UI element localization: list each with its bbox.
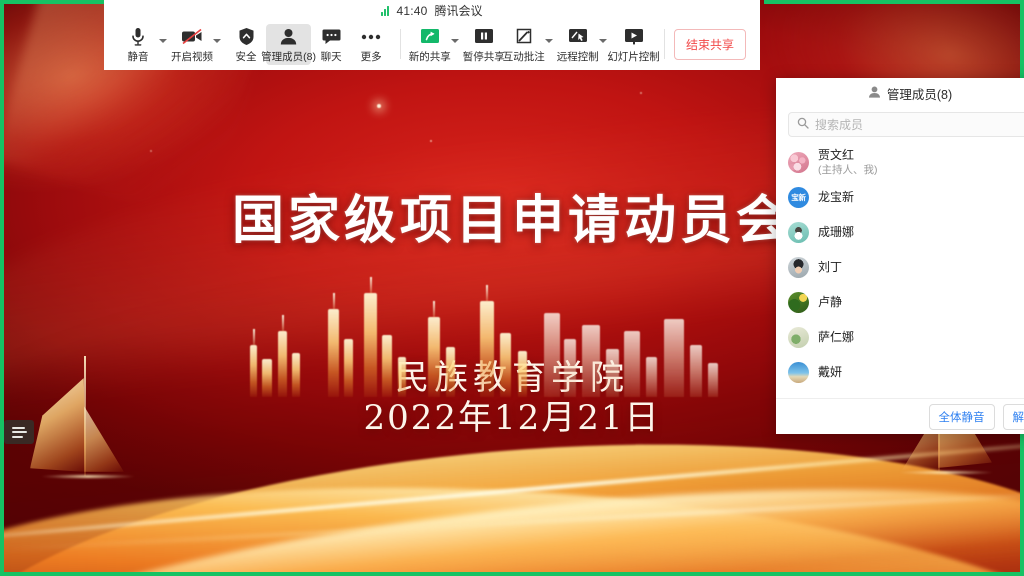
building bbox=[398, 357, 406, 397]
sailing-ship-left bbox=[18, 364, 148, 484]
sparkle-icon bbox=[430, 140, 432, 142]
avatar bbox=[788, 222, 809, 243]
participant-row[interactable]: 成珊娜 bbox=[776, 215, 1024, 250]
building bbox=[690, 345, 702, 397]
participants-panel-footer: 全体静音 解 bbox=[776, 398, 1024, 434]
participant-name: 贾文红 bbox=[818, 149, 878, 163]
participant-name: 萨仁娜 bbox=[818, 331, 854, 345]
new-share-button-label: 新的共享 bbox=[409, 49, 451, 64]
participant-row[interactable]: 萨仁娜 bbox=[776, 320, 1024, 355]
building bbox=[262, 359, 272, 397]
participants-panel-title: 管理成员(8) bbox=[887, 84, 952, 103]
video-off-icon bbox=[181, 26, 203, 48]
toolbar-status-row: 41:40 腾讯会议 bbox=[104, 0, 760, 21]
participant-row[interactable]: 戴妍 bbox=[776, 355, 1024, 390]
remote-control-button-label: 远程控制 bbox=[557, 49, 599, 64]
city-skyline bbox=[232, 267, 792, 397]
person-icon bbox=[279, 26, 298, 48]
sparkle-icon bbox=[377, 104, 381, 108]
building bbox=[292, 353, 300, 397]
building bbox=[544, 313, 560, 397]
unmute-all-button[interactable]: 解 bbox=[1003, 404, 1024, 430]
participant-name: 龙宝新 bbox=[818, 191, 854, 205]
building bbox=[250, 345, 257, 397]
building bbox=[364, 293, 377, 397]
menu-list-icon bbox=[12, 424, 27, 440]
annotate-pen-icon bbox=[515, 26, 533, 48]
signal-bars-icon bbox=[381, 6, 389, 16]
participant-name-block: 龙宝新 bbox=[818, 191, 854, 205]
building bbox=[500, 333, 511, 397]
participant-name-block: 戴妍 bbox=[818, 366, 842, 380]
building bbox=[708, 363, 718, 397]
participants-search-box[interactable] bbox=[788, 112, 1024, 137]
remote-control-button[interactable]: 远程控制 bbox=[558, 24, 598, 65]
participant-name-block: 贾文红(主持人、我) bbox=[818, 149, 878, 176]
remote-control-icon bbox=[568, 26, 588, 48]
building bbox=[624, 331, 640, 397]
annotate-button[interactable]: 互动批注 bbox=[504, 24, 544, 65]
participant-name: 戴妍 bbox=[818, 366, 842, 380]
person-icon bbox=[868, 86, 881, 101]
toolbar-buttons-row: 静音 开启视频 安全 管理成员(8) bbox=[104, 21, 760, 70]
avatar bbox=[788, 327, 809, 348]
floating-menu-button[interactable] bbox=[4, 420, 34, 444]
toolbar-divider-right bbox=[664, 29, 665, 59]
pause-share-button[interactable]: 暂停共享 bbox=[464, 24, 504, 65]
start-video-button-label: 开启视频 bbox=[171, 49, 213, 64]
participant-row[interactable]: 宝新龙宝新 bbox=[776, 180, 1024, 215]
building bbox=[480, 301, 494, 397]
chat-button[interactable]: 聊天 bbox=[311, 24, 351, 65]
participant-role: (主持人、我) bbox=[818, 164, 878, 176]
building bbox=[278, 331, 287, 397]
building bbox=[646, 357, 657, 397]
meeting-timer: 41:40 bbox=[396, 4, 427, 18]
building bbox=[518, 351, 527, 397]
pause-share-button-label: 暂停共享 bbox=[463, 49, 505, 64]
building bbox=[328, 309, 339, 397]
sparkle-icon bbox=[640, 92, 642, 94]
avatar bbox=[788, 292, 809, 313]
participant-name-block: 萨仁娜 bbox=[818, 331, 854, 345]
building bbox=[446, 347, 455, 397]
ship-sail bbox=[84, 406, 124, 472]
building bbox=[382, 335, 392, 397]
meeting-toolbar: 41:40 腾讯会议 静音 开启视频 安全 bbox=[104, 0, 760, 70]
share-screen-icon bbox=[420, 26, 440, 48]
participants-list: 贾文红(主持人、我)宝新龙宝新成珊娜刘丁卢静萨仁娜戴妍 bbox=[776, 143, 1024, 398]
pause-icon bbox=[474, 26, 494, 48]
app-name: 腾讯会议 bbox=[435, 2, 483, 19]
remote-control-options-chevron-down-icon[interactable] bbox=[599, 39, 607, 43]
building bbox=[564, 339, 576, 397]
start-video-button[interactable]: 开启视频 bbox=[172, 24, 212, 65]
ship-sail bbox=[30, 378, 86, 472]
avatar bbox=[788, 257, 809, 278]
new-share-button[interactable]: 新的共享 bbox=[410, 24, 450, 65]
search-input[interactable] bbox=[815, 118, 1023, 132]
participant-name: 刘丁 bbox=[818, 261, 842, 275]
building bbox=[582, 325, 600, 397]
building bbox=[664, 319, 684, 397]
security-button[interactable]: 安全 bbox=[226, 24, 266, 65]
building bbox=[606, 349, 619, 397]
video-options-chevron-down-icon[interactable] bbox=[213, 39, 221, 43]
manage-participants-button-label: 管理成员(8) bbox=[261, 49, 316, 64]
participant-name-block: 成珊娜 bbox=[818, 226, 854, 240]
participant-name: 卢静 bbox=[818, 296, 842, 310]
participant-name-block: 卢静 bbox=[818, 296, 842, 310]
participants-panel: 管理成员(8) 贾文红(主持人、我)宝新龙宝新成珊娜刘丁卢静萨仁娜戴妍 全体静音… bbox=[776, 78, 1024, 434]
annotate-options-chevron-down-icon[interactable] bbox=[545, 39, 553, 43]
sparkle-icon bbox=[150, 150, 152, 152]
mute-button-label: 静音 bbox=[128, 49, 149, 64]
more-button[interactable]: 更多 bbox=[351, 24, 391, 65]
participant-row[interactable]: 贾文红(主持人、我) bbox=[776, 145, 1024, 180]
ship-hull bbox=[40, 475, 136, 478]
participant-row[interactable]: 刘丁 bbox=[776, 250, 1024, 285]
ellipsis-icon bbox=[361, 26, 381, 48]
participant-row[interactable]: 卢静 bbox=[776, 285, 1024, 320]
mute-all-button[interactable]: 全体静音 bbox=[929, 404, 995, 430]
search-icon bbox=[797, 116, 809, 134]
annotate-button-label: 互动批注 bbox=[503, 49, 545, 64]
slide-control-icon bbox=[624, 26, 644, 48]
mute-options-chevron-down-icon[interactable] bbox=[159, 39, 167, 43]
shield-icon bbox=[238, 26, 255, 48]
participant-name: 成珊娜 bbox=[818, 226, 854, 240]
participants-panel-header: 管理成员(8) bbox=[776, 78, 1024, 108]
chat-bubble-icon bbox=[322, 26, 341, 48]
ship-hull bbox=[898, 471, 994, 474]
avatar bbox=[788, 362, 809, 383]
more-button-label: 更多 bbox=[361, 49, 382, 64]
building bbox=[428, 317, 440, 397]
share-options-chevron-down-icon[interactable] bbox=[451, 39, 459, 43]
mute-button[interactable]: 静音 bbox=[118, 24, 158, 65]
security-button-label: 安全 bbox=[236, 49, 257, 64]
manage-participants-button[interactable]: 管理成员(8) bbox=[266, 24, 311, 65]
avatar bbox=[788, 152, 809, 173]
avatar: 宝新 bbox=[788, 187, 809, 208]
slide-control-button-label: 幻灯片控制 bbox=[607, 49, 660, 64]
building bbox=[344, 339, 353, 397]
microphone-icon bbox=[130, 26, 146, 48]
slide-control-button[interactable]: 幻灯片控制 bbox=[612, 24, 656, 65]
end-share-button[interactable]: 结束共享 bbox=[674, 29, 746, 60]
toolbar-divider bbox=[400, 29, 401, 59]
participant-name-block: 刘丁 bbox=[818, 261, 842, 275]
chat-button-label: 聊天 bbox=[321, 49, 342, 64]
